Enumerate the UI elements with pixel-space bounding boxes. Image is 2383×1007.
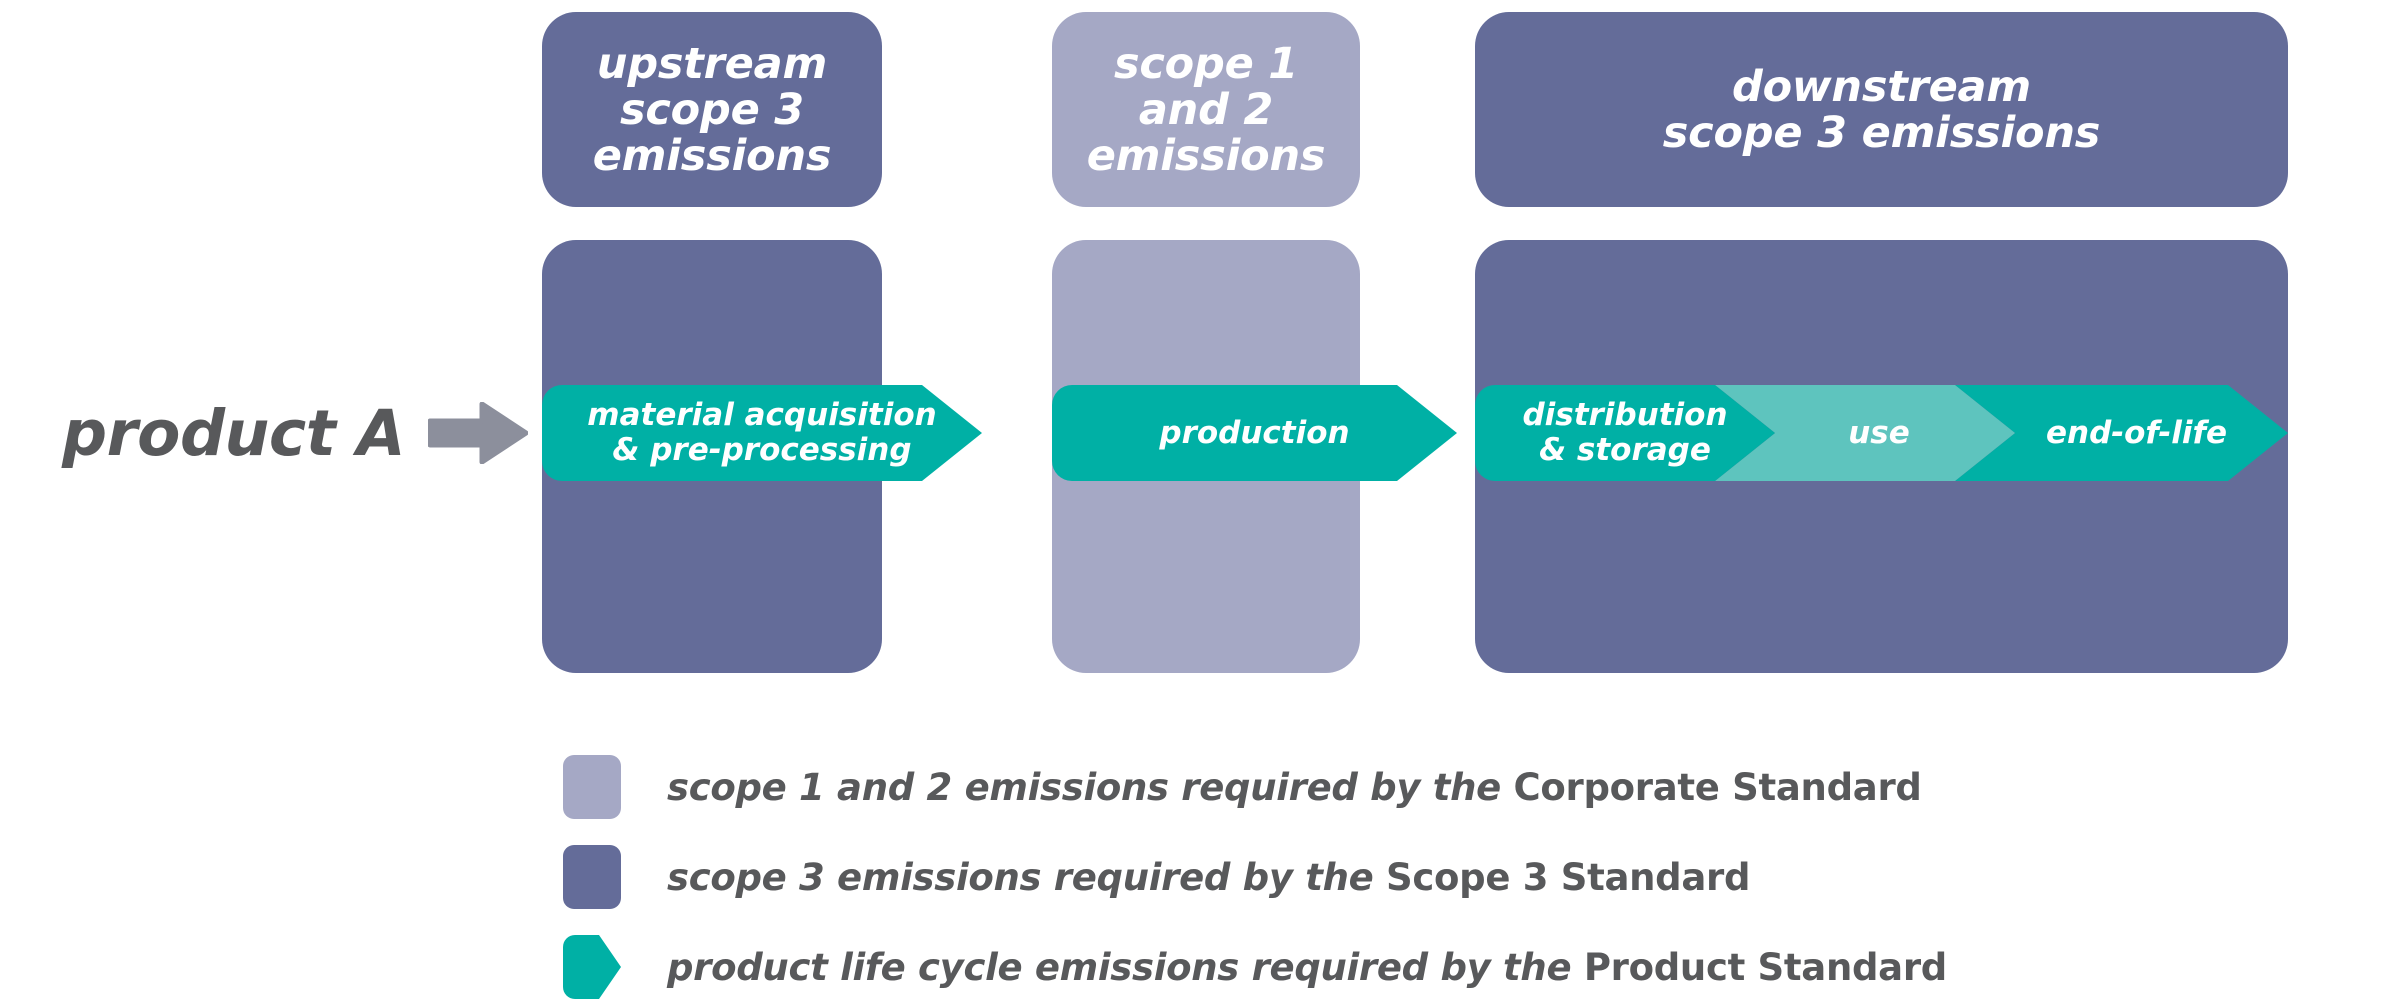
stage-label-line1: material acquisition (587, 398, 936, 433)
legend-label-corporate-standard: scope 1 and 2 emissions required by the … (667, 766, 1922, 809)
legend-item-scope-3-standard: scope 3 emissions required by the Scope … (563, 842, 1750, 912)
legend-description: product life cycle emissions required by… (667, 946, 1584, 989)
stage-label-line1: production (1159, 416, 1349, 451)
stage-use-text: use (1848, 416, 1910, 451)
legend-standard-name: Product Standard (1584, 946, 1947, 989)
stage-label-line1: end-of-life (2046, 416, 2227, 451)
legend-label-scope-3-standard: scope 3 emissions required by the Scope … (667, 856, 1750, 899)
legend-description: scope 1 and 2 emissions required by the (667, 766, 1514, 809)
legend-swatch-scope1-2 (563, 755, 621, 819)
header-upstream-line2: scope 3 emissions (593, 85, 832, 181)
header-upstream-scope3-text: upstream scope 3 emissions (556, 41, 868, 179)
header-upstream-line1: upstream (597, 39, 827, 89)
legend-label-product-standard: product life cycle emissions required by… (667, 946, 1947, 989)
legend-swatch-scope3 (563, 845, 621, 909)
header-downstream-line2: scope 3 emissions (1663, 108, 2100, 158)
header-scope1-2-line2: emissions (1087, 131, 1326, 181)
legend-description: scope 3 emissions required by the (667, 856, 1386, 899)
legend-standard-name: Corporate Standard (1514, 766, 1922, 809)
legend-item-product-standard: product life cycle emissions required by… (563, 932, 1947, 1002)
header-downstream-line1: downstream (1732, 62, 2031, 112)
header-scope1-2-text: scope 1 and 2 emissions (1066, 41, 1346, 179)
right-arrow-icon (428, 402, 528, 464)
stage-material-acquisition-text: material acquisition & pre-processing (587, 398, 936, 467)
stage-distribution-storage: distribution & storage (1475, 385, 1775, 481)
legend-swatch-lifecycle (563, 935, 621, 999)
stage-end-of-life-text: end-of-life (2046, 416, 2227, 451)
header-scope1-2: scope 1 and 2 emissions (1052, 12, 1360, 207)
stage-production: production (1052, 385, 1457, 481)
diagram-canvas: upstream scope 3 emissions scope 1 and 2… (0, 0, 2383, 1007)
legend-standard-name: Scope 3 Standard (1386, 856, 1750, 899)
header-downstream-scope3-text: downstream scope 3 emissions (1663, 64, 2100, 156)
stage-label-line2: & pre-processing (587, 433, 936, 468)
stage-material-acquisition: material acquisition & pre-processing (542, 385, 982, 481)
header-upstream-scope3: upstream scope 3 emissions (542, 12, 882, 207)
header-scope1-2-line1: scope 1 and 2 (1114, 39, 1298, 135)
legend-item-corporate-standard: scope 1 and 2 emissions required by the … (563, 752, 1922, 822)
stage-production-text: production (1159, 416, 1349, 451)
header-downstream-scope3: downstream scope 3 emissions (1475, 12, 2288, 207)
product-label: product A (62, 385, 412, 481)
stage-label-line1: distribution (1522, 398, 1727, 433)
stage-label-line1: use (1848, 416, 1910, 451)
stage-label-line2: & storage (1522, 433, 1727, 468)
stage-distribution-storage-text: distribution & storage (1522, 398, 1727, 467)
